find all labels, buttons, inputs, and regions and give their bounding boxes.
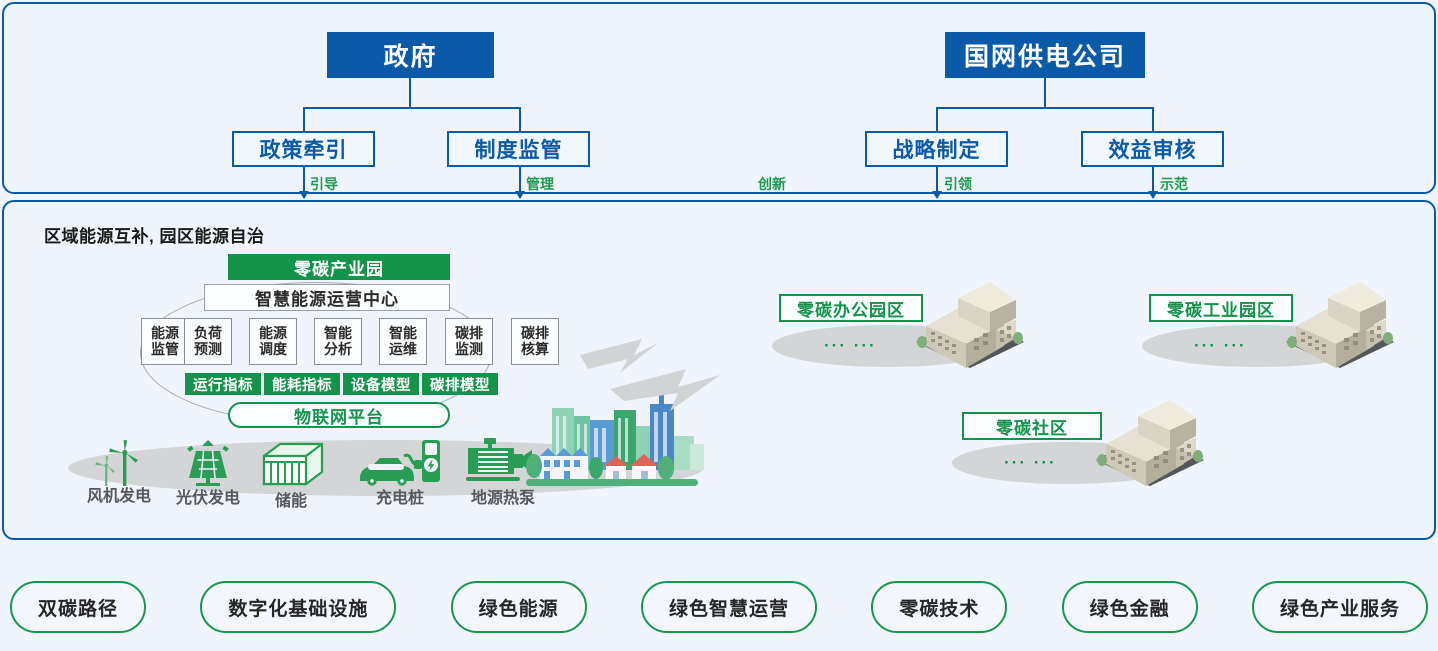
building-icon-community — [1092, 398, 1208, 495]
diagram-stage: 政府 国网供电公司 政策牵引 制度监管 战略制定 效益审核 引导 管理 引领 示… — [0, 0, 1438, 651]
arrow-head-demonstration — [1148, 191, 1158, 199]
iot-platform-bar[interactable]: 物联网平台 — [228, 402, 450, 428]
building-icon-industrial-park — [1282, 280, 1398, 377]
park-title-bar[interactable]: 零碳产业园 — [228, 254, 450, 280]
energy-storage-icon — [262, 442, 324, 491]
module-box-0[interactable]: 能源 监管 — [141, 318, 189, 365]
label-innovation: 创新 — [758, 174, 786, 194]
pill-2[interactable]: 绿色能源 — [451, 581, 587, 633]
building-label-industrial-park[interactable]: 零碳工业园区 — [1149, 294, 1293, 322]
capability-pill-row: 双碳路径 数字化基础设施 绿色能源 绿色智慧运营 零碳技术 绿色金融 绿色产业服… — [0, 576, 1438, 638]
module-line-2: 预测 — [194, 342, 222, 358]
module-box-1[interactable]: 负荷 预测 — [184, 318, 232, 365]
module-line-2: 核算 — [521, 342, 549, 358]
arrow-label-leadership: 引领 — [944, 174, 972, 194]
tag-2[interactable]: 设备模型 — [343, 373, 419, 395]
arrow-label-demonstration: 示范 — [1160, 174, 1188, 194]
building-dots-industrial-park: ··· ··· — [1194, 336, 1247, 356]
edge-gov-vertical — [409, 78, 411, 108]
pill-3[interactable]: 绿色智慧运营 — [641, 581, 817, 633]
module-line-1: 智能 — [324, 326, 352, 342]
pill-0[interactable]: 双碳路径 — [10, 581, 146, 633]
edge-grid-vertical — [1044, 78, 1046, 108]
module-line-2: 调度 — [259, 342, 287, 358]
energy-label-wind: 风机发电 — [74, 482, 164, 506]
lightning-bolt-icon — [580, 325, 730, 420]
branch-box-strategy-formulation[interactable]: 战略制定 — [865, 131, 1008, 167]
pill-4[interactable]: 零碳技术 — [871, 581, 1007, 633]
module-box-5[interactable]: 碳排 监测 — [445, 318, 493, 365]
module-box-6[interactable]: 碳排 核算 — [511, 318, 559, 365]
arrow-label-guidance: 引导 — [310, 174, 338, 194]
arrow-head-leadership — [932, 191, 942, 199]
building-dots-office-park: ··· ··· — [824, 336, 877, 356]
building-label-office-park[interactable]: 零碳办公园区 — [779, 294, 923, 322]
pill-5[interactable]: 绿色金融 — [1062, 581, 1198, 633]
branch-box-institutional-supervision[interactable]: 制度监管 — [447, 131, 590, 167]
edge-grid-right-drop — [1152, 107, 1154, 131]
pill-6[interactable]: 绿色产业服务 — [1252, 581, 1428, 633]
module-line-1: 能源 — [259, 326, 287, 342]
energy-label-solar: 光伏发电 — [163, 484, 253, 508]
edge-gov-horizontal — [303, 107, 521, 109]
building-icon-office-park — [912, 280, 1028, 377]
building-dots-community: ··· ··· — [1004, 453, 1057, 473]
branch-box-policy-guidance[interactable]: 政策牵引 — [232, 131, 375, 167]
pill-1[interactable]: 数字化基础设施 — [200, 581, 396, 633]
tag-0[interactable]: 运行指标 — [185, 373, 261, 395]
building-label-community[interactable]: 零碳社区 — [962, 412, 1102, 440]
tag-1[interactable]: 能耗指标 — [264, 373, 340, 395]
arrow-label-management: 管理 — [526, 174, 554, 194]
energy-label-ev-charger: 充电桩 — [362, 484, 438, 508]
module-box-2[interactable]: 能源 调度 — [249, 318, 297, 365]
arrow-head-management — [515, 191, 525, 199]
module-line-1: 智能 — [389, 326, 417, 342]
module-box-3[interactable]: 智能 分析 — [314, 318, 362, 365]
module-line-2: 运维 — [389, 342, 417, 358]
module-line-1: 碳排 — [521, 326, 549, 342]
module-line-2: 监管 — [151, 342, 179, 358]
arrow-shaft-leadership — [936, 167, 938, 194]
branch-box-benefit-review[interactable]: 效益审核 — [1081, 131, 1224, 167]
energy-label-storage: 储能 — [258, 487, 324, 511]
module-line-1: 能源 — [151, 326, 179, 342]
park-heading: 区域能源互补, 园区能源自治 — [44, 222, 264, 247]
edge-grid-left-drop — [936, 107, 938, 131]
edge-gov-left-drop — [303, 107, 305, 131]
arrow-shaft-management — [519, 167, 521, 194]
park-subtitle-bar[interactable]: 智慧能源运营中心 — [204, 284, 450, 311]
module-line-2: 分析 — [324, 342, 352, 358]
arrow-shaft-guidance — [303, 167, 305, 194]
root-box-government[interactable]: 政府 — [327, 32, 494, 78]
tag-3[interactable]: 碳排模型 — [422, 373, 498, 395]
module-line-1: 碳排 — [455, 326, 483, 342]
arrow-shaft-demonstration — [1152, 167, 1154, 194]
module-line-1: 负荷 — [194, 326, 222, 342]
ev-charger-icon — [358, 434, 442, 491]
module-line-2: 监测 — [455, 342, 483, 358]
module-box-4[interactable]: 智能 运维 — [379, 318, 427, 365]
root-box-grid-company[interactable]: 国网供电公司 — [945, 32, 1145, 78]
arrow-head-guidance — [299, 191, 309, 199]
edge-gov-right-drop — [519, 107, 521, 131]
edge-grid-horizontal — [936, 107, 1154, 109]
